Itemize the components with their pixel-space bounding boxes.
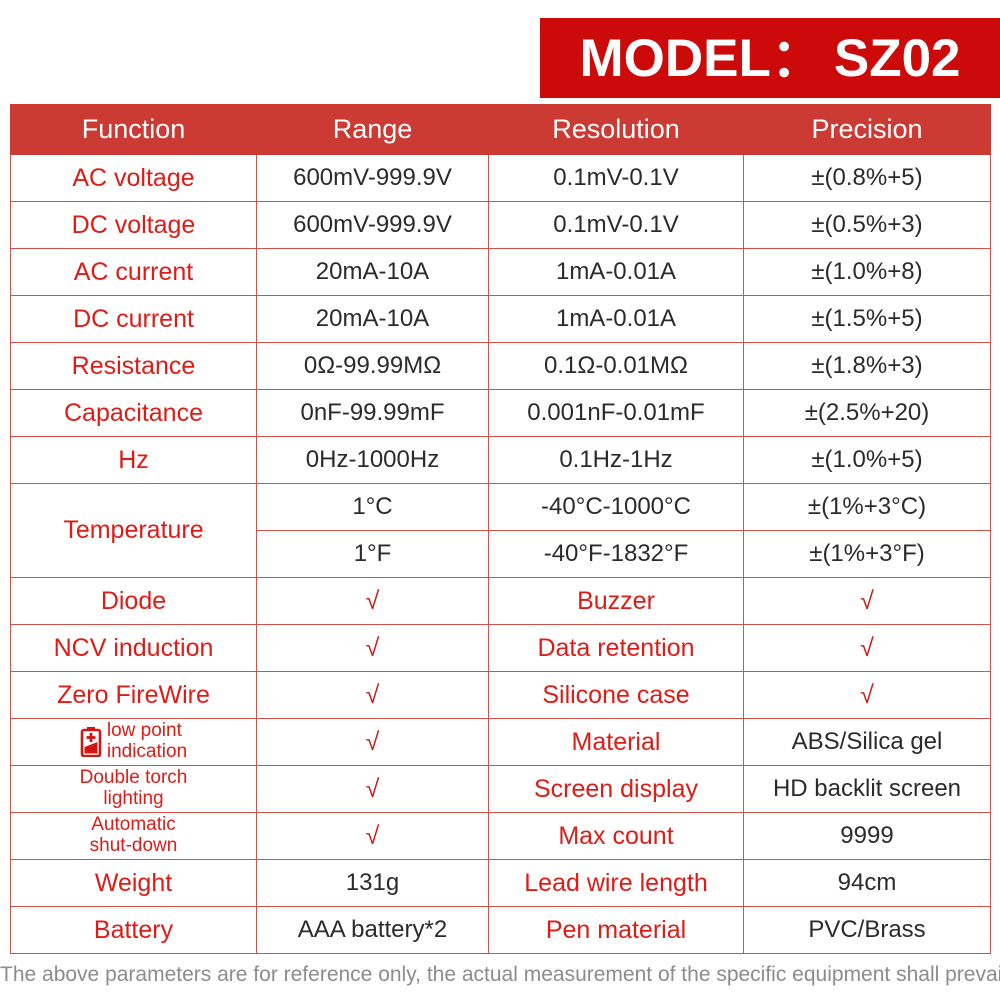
row-feature-label-left: Diode xyxy=(11,578,257,625)
checkmark-icon: √ xyxy=(744,578,991,625)
row-resolution-value: 0.001nF-0.01mF xyxy=(489,390,744,437)
table-row: low pointindication√MaterialABS/Silica g… xyxy=(11,719,991,766)
row-resolution-value: 0.1mV-0.1V xyxy=(489,202,744,249)
row-value-right: ABS/Silica gel xyxy=(744,719,991,766)
row-precision-value: ±(1.8%+3) xyxy=(744,343,991,390)
checkmark-icon: √ xyxy=(257,813,489,860)
label-line: low point xyxy=(107,721,187,742)
row-feature-label-right: Buzzer xyxy=(489,578,744,625)
table-row: Double torchlighting√Screen displayHD ba… xyxy=(11,766,991,813)
table-row: Resistance0Ω-99.99MΩ0.1Ω-0.01MΩ±(1.8%+3) xyxy=(11,343,991,390)
row-range-value: 0nF-99.99mF xyxy=(257,390,489,437)
row-precision-value: ±(1.0%+8) xyxy=(744,249,991,296)
row-precision-value: ±(1%+3°F) xyxy=(744,531,991,578)
row-range-value: 0Ω-99.99MΩ xyxy=(257,343,489,390)
model-banner-text: MODEL：SZ02 xyxy=(579,32,960,85)
checkmark-icon: √ xyxy=(744,625,991,672)
row-resolution-value: -40°F-1832°F xyxy=(489,531,744,578)
row-feature-label-left: low pointindication xyxy=(11,719,257,766)
row-function-label: DC voltage xyxy=(11,202,257,249)
row-feature-label-text: low pointindication xyxy=(107,721,187,762)
row-value-left: 131g xyxy=(257,860,489,907)
row-range-value: 0Hz-1000Hz xyxy=(257,437,489,484)
label-line: Automatic xyxy=(15,815,252,836)
row-feature-label-right: Data retention xyxy=(489,625,744,672)
checkmark-icon: √ xyxy=(257,672,489,719)
row-resolution-value: 0.1Hz-1Hz xyxy=(489,437,744,484)
row-precision-value: ±(0.8%+5) xyxy=(744,155,991,202)
row-feature-label-right: Material xyxy=(489,719,744,766)
table-row: NCV induction√Data retention√ xyxy=(11,625,991,672)
row-resolution-value: 1mA-0.01A xyxy=(489,249,744,296)
low-battery-icon xyxy=(80,727,102,757)
row-range-value: 1°C xyxy=(257,484,489,531)
row-feature-label-right: Lead wire length xyxy=(489,860,744,907)
table-row: AC current20mA-10A1mA-0.01A±(1.0%+8) xyxy=(11,249,991,296)
row-feature-label-left: NCV induction xyxy=(11,625,257,672)
row-precision-value: ±(0.5%+3) xyxy=(744,202,991,249)
table-row: BatteryAAA battery*2Pen materialPVC/Bras… xyxy=(11,907,991,954)
row-precision-value: ±(2.5%+20) xyxy=(744,390,991,437)
table-row: AC voltage600mV-999.9V0.1mV-0.1V±(0.8%+5… xyxy=(11,155,991,202)
row-function-label: Capacitance xyxy=(11,390,257,437)
row-range-value: 20mA-10A xyxy=(257,296,489,343)
row-resolution-value: 0.1Ω-0.01MΩ xyxy=(489,343,744,390)
checkmark-icon: √ xyxy=(257,766,489,813)
column-header-function: Function xyxy=(11,105,257,155)
row-resolution-value: -40°C-1000°C xyxy=(489,484,744,531)
row-feature-label-left: Double torchlighting xyxy=(11,766,257,813)
checkmark-icon: √ xyxy=(257,719,489,766)
row-feature-label-right: Screen display xyxy=(489,766,744,813)
column-header-resolution: Resolution xyxy=(489,105,744,155)
label-line: indication xyxy=(107,742,187,763)
row-value-left: AAA battery*2 xyxy=(257,907,489,954)
table-body: AC voltage600mV-999.9V0.1mV-0.1V±(0.8%+5… xyxy=(11,155,991,954)
row-function-label: Resistance xyxy=(11,343,257,390)
model-label: MODEL： xyxy=(579,29,823,88)
row-feature-label-left: Zero FireWire xyxy=(11,672,257,719)
table-row: Capacitance0nF-99.99mF0.001nF-0.01mF±(2.… xyxy=(11,390,991,437)
row-range-value: 600mV-999.9V xyxy=(257,202,489,249)
row-resolution-value: 0.1mV-0.1V xyxy=(489,155,744,202)
row-feature-label-left: Automaticshut-down xyxy=(11,813,257,860)
table-row: Diode√Buzzer√ xyxy=(11,578,991,625)
row-range-value: 600mV-999.9V xyxy=(257,155,489,202)
label-line: Double torch xyxy=(15,768,252,789)
row-function-label: Hz xyxy=(11,437,257,484)
spec-sheet-page: MODEL：SZ02 Function Range Resolution Pre… xyxy=(0,0,1000,1000)
footer-disclaimer: The above parameters are for reference o… xyxy=(0,963,1000,987)
table-row: DC voltage600mV-999.9V0.1mV-0.1V±(0.5%+3… xyxy=(11,202,991,249)
table-row: Zero FireWire√Silicone case√ xyxy=(11,672,991,719)
table-row: DC current20mA-10A1mA-0.01A±(1.5%+5) xyxy=(11,296,991,343)
row-value-right: 9999 xyxy=(744,813,991,860)
checkmark-icon: √ xyxy=(257,578,489,625)
row-feature-label-right: Max count xyxy=(489,813,744,860)
column-header-range: Range xyxy=(257,105,489,155)
table-row: Hz0Hz-1000Hz0.1Hz-1Hz±(1.0%+5) xyxy=(11,437,991,484)
row-value-right: HD backlit screen xyxy=(744,766,991,813)
table-header: Function Range Resolution Precision xyxy=(11,105,991,155)
row-precision-value: ±(1%+3°C) xyxy=(744,484,991,531)
label-line: lighting xyxy=(15,789,252,810)
row-function-label: DC current xyxy=(11,296,257,343)
row-feature-label-right: Pen material xyxy=(489,907,744,954)
row-precision-value: ±(1.5%+5) xyxy=(744,296,991,343)
row-function-label-temperature: Temperature xyxy=(11,484,257,578)
row-feature-label-left: Battery xyxy=(11,907,257,954)
row-feature-label-left: Weight xyxy=(11,860,257,907)
model-banner: MODEL：SZ02 xyxy=(540,18,1000,98)
table-header-row: Function Range Resolution Precision xyxy=(11,105,991,155)
label-with-icon: low pointindication xyxy=(15,721,252,762)
column-header-precision: Precision xyxy=(744,105,991,155)
row-precision-value: ±(1.0%+5) xyxy=(744,437,991,484)
row-value-right: PVC/Brass xyxy=(744,907,991,954)
table-row: Automaticshut-down√Max count9999 xyxy=(11,813,991,860)
table-row-temperature-celsius: Temperature1°C-40°C-1000°C±(1%+3°C) xyxy=(11,484,991,531)
checkmark-icon: √ xyxy=(257,625,489,672)
label-line: shut-down xyxy=(15,836,252,857)
row-range-value: 1°F xyxy=(257,531,489,578)
row-function-label: AC current xyxy=(11,249,257,296)
row-range-value: 20mA-10A xyxy=(257,249,489,296)
row-feature-label-right: Silicone case xyxy=(489,672,744,719)
model-value: SZ02 xyxy=(834,29,961,88)
row-function-label: AC voltage xyxy=(11,155,257,202)
row-resolution-value: 1mA-0.01A xyxy=(489,296,744,343)
table-row: Weight131gLead wire length94cm xyxy=(11,860,991,907)
specification-table: Function Range Resolution Precision AC v… xyxy=(10,104,991,954)
row-value-right: 94cm xyxy=(744,860,991,907)
checkmark-icon: √ xyxy=(744,672,991,719)
